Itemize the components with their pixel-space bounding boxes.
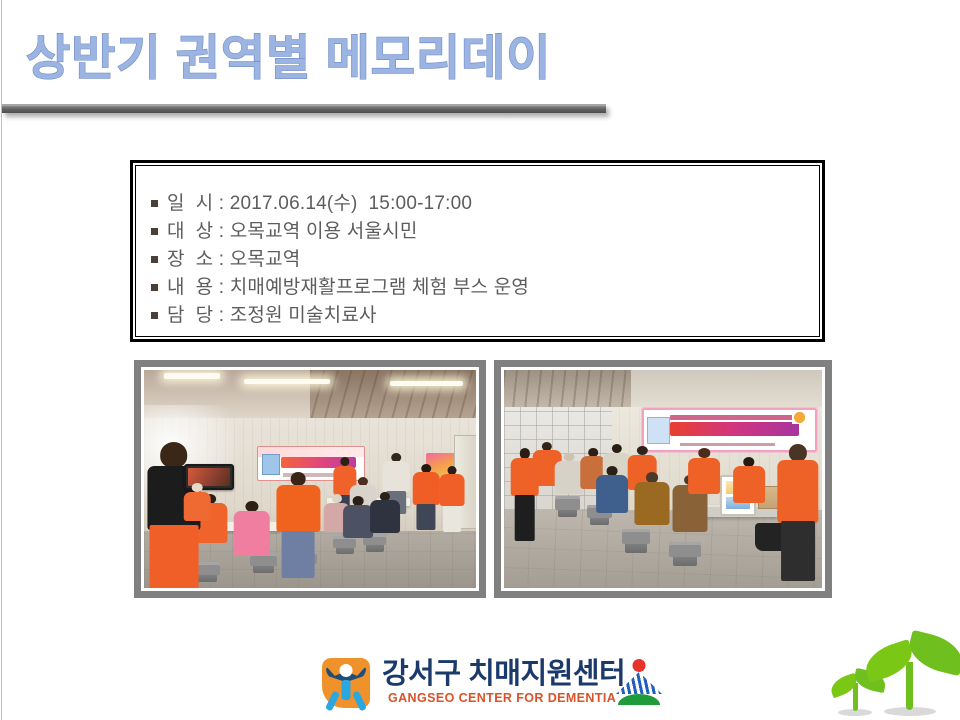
person bbox=[184, 483, 211, 531]
person bbox=[234, 501, 271, 575]
person bbox=[634, 472, 669, 550]
person bbox=[343, 496, 373, 553]
gangseo-district-emblem-icon bbox=[616, 659, 662, 705]
info-box: 일 시 : 2017.06.14(수) 15:00-17:00 대 상 : 오목… bbox=[130, 160, 825, 342]
person bbox=[688, 448, 720, 513]
title-underline-highlight bbox=[2, 104, 606, 106]
person bbox=[596, 466, 628, 540]
list-item: 담 당 : 조정원 미술치료사 bbox=[151, 303, 529, 328]
footer-logo-english-text: GANGSEO CENTER FOR DEMENTIA bbox=[388, 691, 616, 706]
info-list: 일 시 : 2017.06.14(수) 15:00-17:00 대 상 : 오목… bbox=[151, 191, 529, 331]
person bbox=[370, 492, 400, 549]
list-item: 장 소 : 오목교역 bbox=[151, 247, 529, 272]
person bbox=[555, 453, 584, 510]
photo-left bbox=[144, 370, 476, 588]
info-line-location: 장 소 : 오목교역 bbox=[167, 247, 300, 272]
gangseo-bird-mark-icon bbox=[322, 658, 370, 708]
person bbox=[413, 464, 440, 529]
square-bullet-icon bbox=[151, 228, 158, 235]
sprout-decoration bbox=[838, 618, 956, 716]
photo-left-scene bbox=[144, 370, 476, 588]
page-title: 상반기 권역별 메모리데이 bbox=[26, 28, 551, 90]
person bbox=[439, 466, 464, 531]
square-bullet-icon bbox=[151, 200, 158, 207]
list-item: 대 상 : 오목교역 이용 서울시민 bbox=[151, 219, 529, 244]
person bbox=[733, 457, 765, 522]
square-bullet-icon bbox=[151, 256, 158, 263]
large-sprout-icon bbox=[868, 632, 960, 716]
info-line-audience: 대 상 : 오목교역 이용 서울시민 bbox=[167, 219, 418, 244]
photo-right-scene bbox=[504, 370, 822, 588]
info-line-staff: 담 당 : 조정원 미술치료사 bbox=[167, 303, 377, 328]
photo-right bbox=[504, 370, 822, 588]
list-item: 일 시 : 2017.06.14(수) 15:00-17:00 bbox=[151, 191, 529, 216]
info-line-datetime: 일 시 : 2017.06.14(수) 15:00-17:00 bbox=[167, 191, 472, 216]
photo-frame-right bbox=[494, 360, 832, 598]
person bbox=[277, 472, 320, 577]
photo-frame-left bbox=[134, 360, 486, 598]
slide-canvas: 상반기 권역별 메모리데이 일 시 : 2017.06.14(수) 15:00-… bbox=[0, 0, 960, 720]
footer-logo: 강서구 치매지원센터 GANGSEO CENTER FOR DEMENTIA bbox=[322, 655, 662, 711]
info-line-content: 내 용 : 치매예방재활프로그램 체험 부스 운영 bbox=[167, 275, 529, 300]
square-bullet-icon bbox=[151, 284, 158, 291]
footer-logo-korean-text: 강서구 치매지원센터 bbox=[382, 657, 625, 691]
list-item: 내 용 : 치매예방재활프로그램 체험 부스 운영 bbox=[151, 275, 529, 300]
square-bullet-icon bbox=[151, 312, 158, 319]
person bbox=[777, 444, 818, 579]
